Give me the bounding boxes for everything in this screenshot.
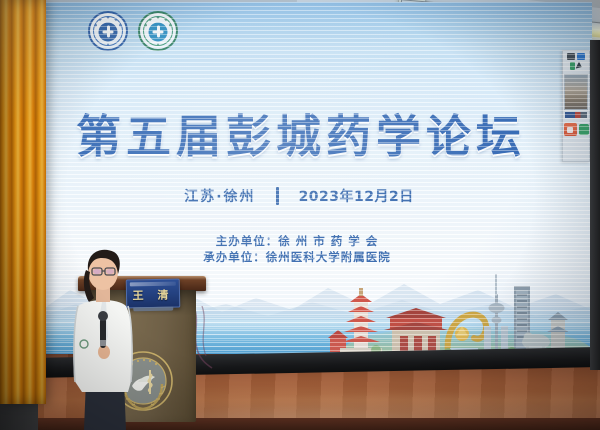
camera-icon[interactable] [567,53,575,60]
download-icon[interactable] [579,124,589,135]
subtitle-divider [276,187,279,205]
meeting-app-icon[interactable] [564,123,577,136]
slide-location: 江苏·徐州 [184,186,255,206]
right-wall [590,40,600,370]
conference-stage-photo: 第五届彭城药学论坛 江苏·徐州 2023年12月2日 主办单位：徐 州 市 药 … [0,0,600,430]
microphone-icon[interactable] [570,62,575,70]
app-glyph [567,127,573,133]
vc-bottom-row[interactable] [564,120,589,136]
stage-curtain-left [0,0,46,404]
cursor-icon [576,61,584,70]
vc-toolbar-row-2[interactable] [570,62,582,70]
participant-name-strip [565,112,587,118]
slide-date: 2023年12月2日 [299,186,414,206]
vc-toolbar-row[interactable] [567,53,585,60]
window-icon[interactable] [577,53,585,60]
slide-title: 第五届彭城药学论坛 [36,100,566,165]
participant-video-thumbnail[interactable] [564,74,588,110]
video-conference-panel[interactable] [562,50,590,162]
slide-subtitle-row: 江苏·徐州 2023年12月2日 [36,186,562,206]
speaker-person [62,240,148,430]
